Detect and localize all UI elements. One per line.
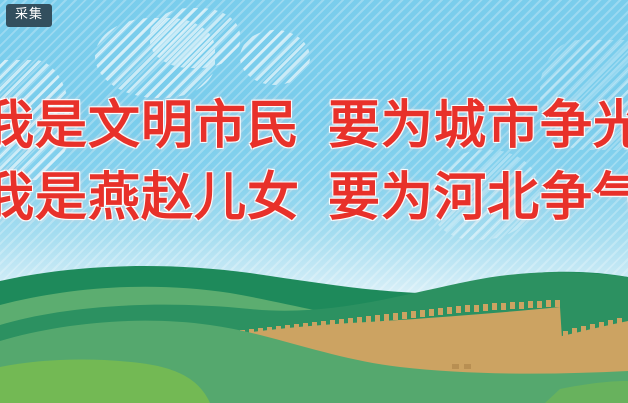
slogan-line-2-left: 我是燕赵儿女 [0,168,300,228]
slogan-line-2-right: 要为河北争气 [328,168,628,228]
watermark-shape-2 [150,8,240,68]
slogan-line-1-right: 要为城市争光 [328,96,628,156]
landscape-illustration [0,263,628,403]
capture-button[interactable]: 采集 [6,4,52,27]
slogan-line-2: 我是燕赵儿女 要为河北争气 [0,168,628,240]
watermark-shape-4 [240,30,310,85]
slogan-line-1: 我是文明市民 要为城市争光 [0,96,628,168]
great-wall-right-tower-slit [452,364,459,369]
slogan-line-1-left: 我是文明市民 [0,96,300,156]
great-wall-right-tower-slit2 [464,364,471,369]
propaganda-banner: 采集 我是文明市民 要为城市争光 我是燕赵儿女 要为河北争气 [0,0,628,403]
slogan-block: 我是文明市民 要为城市争光 我是燕赵儿女 要为河北争气 [0,96,628,240]
